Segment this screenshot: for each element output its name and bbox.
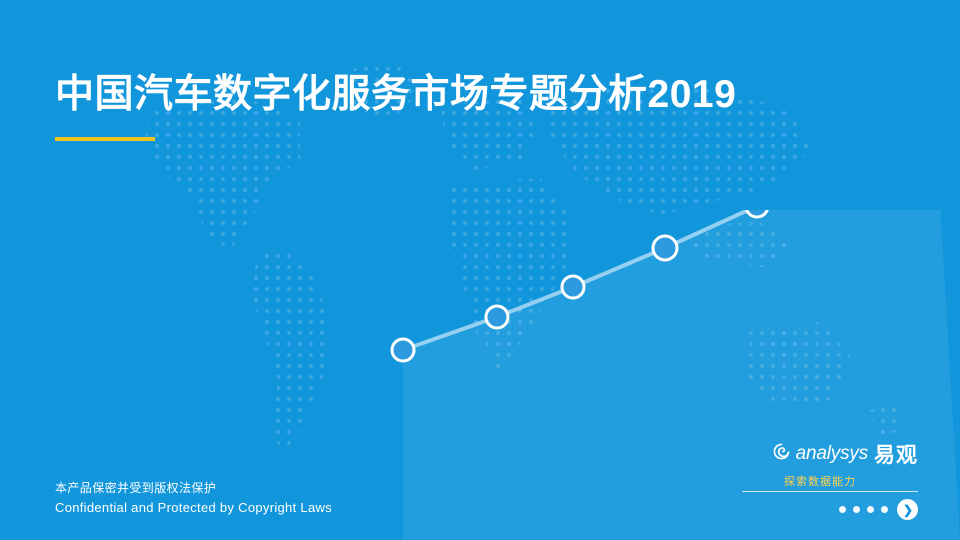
logo-chinese-wordmark: 易观 [874,439,918,469]
title-slide: 中国汽车数字化服务市场专题分析2019 本产品保密并受到版权法保护 Confid… [0,0,960,540]
footer-chinese-text: 本产品保密并受到版权法保护 [55,479,332,498]
dot-1 [839,506,846,513]
dot-4 [881,506,888,513]
next-arrow-button[interactable]: ❯ [897,499,918,520]
dot-3 [867,506,874,513]
analysys-swirl-icon [773,443,790,465]
logo-row: analysys 易观 [738,439,918,469]
page-title: 中国汽车数字化服务市场专题分析2019 [55,72,915,119]
logo-divider [742,491,918,492]
analysys-logo: analysys 易观 探索数据能力 ❯ [738,439,918,520]
pagination-dots: ❯ [738,499,918,520]
title-underline-rule [55,137,155,141]
footer-english-text: Confidential and Protected by Copyright … [55,498,332,518]
logo-tagline: 探索数据能力 [738,473,918,489]
chevron-right-icon: ❯ [903,504,913,516]
copyright-footer: 本产品保密并受到版权法保护 Confidential and Protected… [55,479,332,518]
logo-latin-wordmark: analysys [796,443,868,465]
dot-2 [853,506,860,513]
title-block: 中国汽车数字化服务市场专题分析2019 [55,72,915,141]
